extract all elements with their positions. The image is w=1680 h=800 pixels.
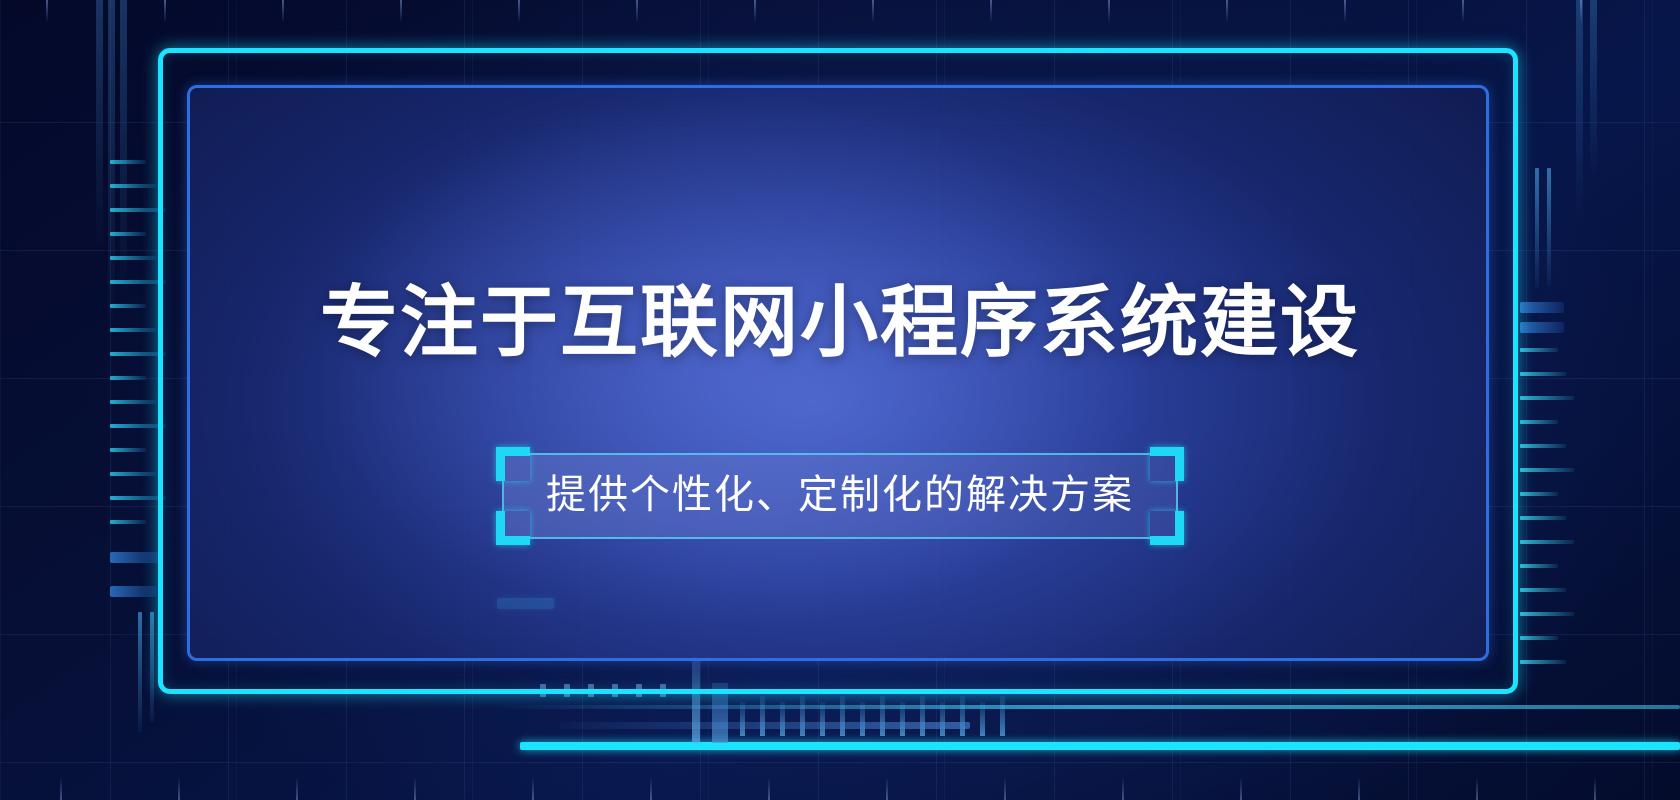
corner-bracket-bottom-right-icon	[1150, 511, 1184, 545]
banner-stage: 专注于互联网小程序系统建设 提供个性化、定制化的解决方案	[0, 0, 1680, 800]
corner-bracket-top-left-icon	[496, 447, 530, 481]
subtitle-box: 提供个性化、定制化的解决方案	[502, 453, 1178, 539]
banner-content: 专注于互联网小程序系统建设 提供个性化、定制化的解决方案	[0, 0, 1680, 800]
page-title: 专注于互联网小程序系统建设	[320, 283, 1360, 361]
page-subtitle: 提供个性化、定制化的解决方案	[546, 475, 1134, 515]
corner-bracket-bottom-left-icon	[496, 511, 530, 545]
corner-bracket-top-right-icon	[1150, 447, 1184, 481]
